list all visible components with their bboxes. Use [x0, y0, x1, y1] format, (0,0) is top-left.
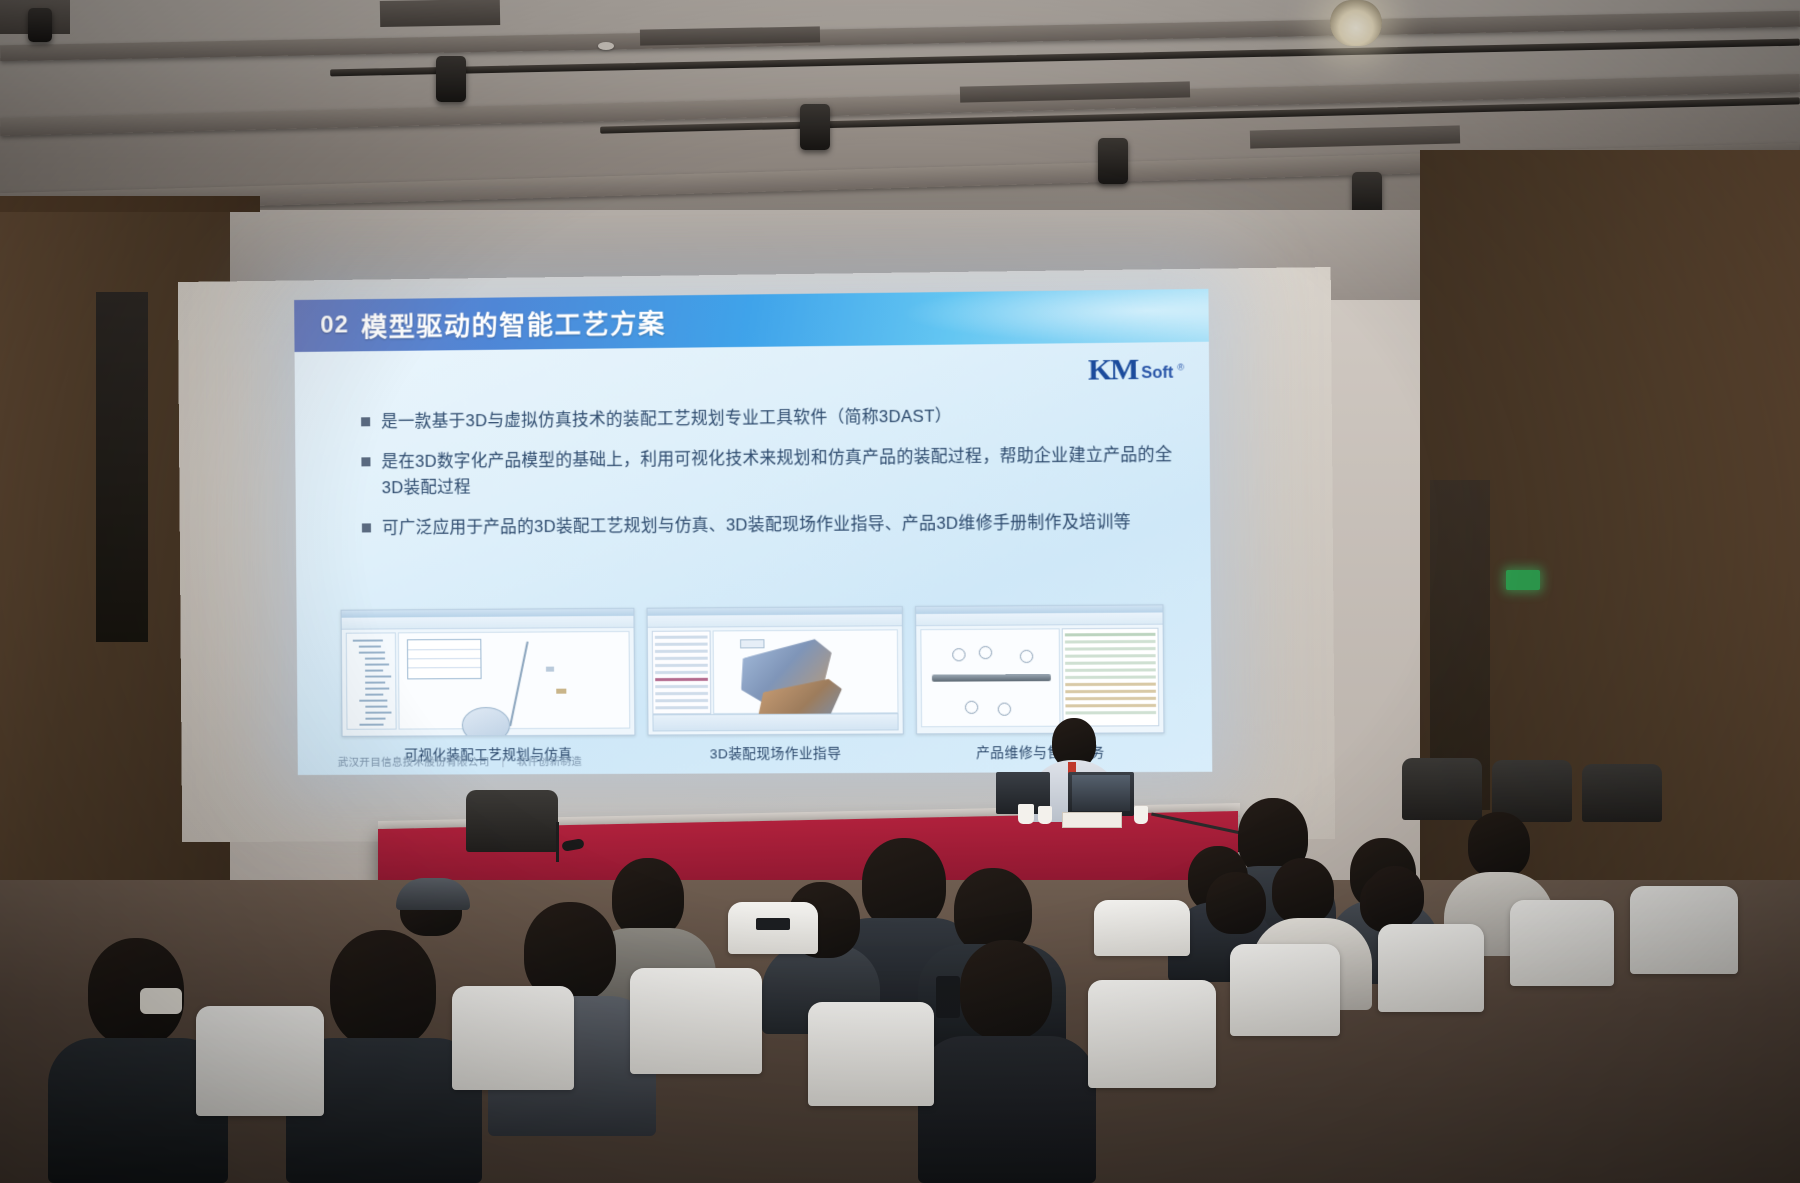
audience-chair[interactable] [1088, 980, 1216, 1088]
slide-title: 模型驱动的智能工艺方案 [361, 303, 666, 344]
square-bullet-icon [362, 524, 371, 533]
audience-body [918, 1036, 1096, 1183]
audience-head [1206, 872, 1266, 934]
balloon-callout [965, 701, 978, 714]
footer-separator: | [502, 756, 505, 768]
callout-label [740, 639, 764, 648]
audience-chair[interactable] [452, 986, 574, 1090]
square-bullet-icon [361, 457, 370, 466]
probe-line [509, 641, 528, 726]
service-record-table [1062, 628, 1160, 727]
toolbar [648, 614, 902, 628]
footer-tagline: 软件创新制造 [517, 754, 582, 769]
face-mask-icon [140, 988, 182, 1014]
water-cup [1018, 804, 1034, 824]
audience-chair[interactable] [1230, 944, 1340, 1036]
audience-chair[interactable] [1402, 758, 1482, 820]
kmsoft-logo: KM Soft ® [1088, 352, 1185, 388]
audience-chair[interactable] [1582, 764, 1662, 822]
audience-head [1366, 866, 1424, 926]
screenshot-cad-planning[interactable] [341, 608, 636, 737]
balloon-callout [979, 646, 992, 659]
toolbar [342, 616, 634, 630]
thumbnail-item: 3D装配现场作业指导 [647, 606, 904, 763]
balloon-callout [998, 703, 1011, 716]
slide-footer: 武汉开目信息技术股份有限公司 | 软件创新制造 [338, 754, 582, 770]
phone-icon[interactable] [936, 976, 960, 1018]
toolbar [916, 612, 1162, 626]
left-speaker [96, 292, 148, 642]
stage-chair[interactable] [466, 790, 558, 852]
logo-wordmark: Soft [1141, 364, 1173, 387]
water-cup [1134, 806, 1148, 824]
exit-sign [1506, 570, 1540, 590]
audience-chair[interactable] [630, 968, 762, 1074]
audience-chair[interactable] [196, 1006, 324, 1116]
ceiling-recess [640, 26, 820, 45]
slide-body: KM Soft ® 是一款基于3D与虚拟仿真技术的装配工艺规划专业工具软件（简称… [295, 342, 1213, 775]
shaft-part [932, 674, 1051, 682]
ceiling-recess [380, 0, 500, 27]
step-toolbar[interactable] [652, 713, 898, 731]
audience-chair[interactable] [1510, 900, 1614, 986]
audience-chair[interactable] [1630, 886, 1738, 974]
water-cup [1038, 806, 1052, 824]
annotation-dot [546, 667, 554, 672]
bullet-item: 是在3D数字化产品模型的基础上，利用可视化技术来规划和仿真产品的装配过程，帮助企… [361, 441, 1183, 502]
ceiling-spotlight [1098, 138, 1128, 184]
ceiling-spotlight [800, 104, 830, 150]
bullet-text: 可广泛应用于产品的3D装配工艺规划与仿真、3D装配现场作业指导、产品3D维修手册… [382, 509, 1131, 542]
smoke-detector [598, 42, 614, 50]
cad-canvas [398, 631, 630, 730]
bullet-item: 是一款基于3D与虚拟仿真技术的装配工艺规划专业工具软件（简称3DAST） [361, 401, 1183, 436]
ceiling-spotlight [436, 56, 466, 102]
annotation-dot [556, 689, 566, 694]
phone-icon[interactable] [756, 918, 790, 930]
microphone-stand[interactable] [556, 822, 559, 862]
nameplate [1062, 812, 1122, 828]
audience-chair[interactable] [1378, 924, 1484, 1012]
presentation-slide: 02 模型驱动的智能工艺方案 KM Soft ® 是一款基于3D与虚拟仿真技术的… [294, 289, 1212, 775]
projection-screen[interactable]: 02 模型驱动的智能工艺方案 KM Soft ® 是一款基于3D与虚拟仿真技术的… [294, 289, 1212, 775]
thumbnail-item: 产品维修与售后服务 [915, 604, 1165, 761]
balloon-callout [1020, 650, 1033, 663]
bullet-text: 是一款基于3D与虚拟仿真技术的装配工艺规划专业工具软件（简称3DAST） [381, 403, 952, 436]
ceiling-downlight [1330, 0, 1382, 46]
bullet-text: 是在3D数字化产品模型的基础上，利用可视化技术来规划和仿真产品的装配过程，帮助企… [381, 441, 1183, 502]
model-tree [346, 632, 397, 729]
ceiling-spotlight [28, 8, 52, 42]
thumbnail-item: 可视化装配工艺规划与仿真 [341, 608, 636, 764]
audience-chair[interactable] [808, 1002, 934, 1106]
bullet-list: 是一款基于3D与虚拟仿真技术的装配工艺规划专业工具软件（简称3DAST） 是在3… [361, 401, 1184, 555]
thumbnail-caption: 3D装配现场作业指导 [710, 742, 842, 763]
audience-head [960, 940, 1052, 1040]
laptop-screen [1072, 775, 1130, 811]
service-viewport [920, 628, 1060, 727]
audience-head [862, 838, 946, 930]
disc-part [462, 707, 511, 737]
square-bullet-icon [361, 417, 370, 426]
screenshot-maintenance-service[interactable] [915, 604, 1164, 734]
audience-head [612, 858, 684, 938]
cap-icon [396, 878, 470, 910]
audience-chair[interactable] [1094, 900, 1190, 956]
screenshot-assembly-guidance[interactable] [647, 606, 904, 735]
operation-list [652, 630, 711, 714]
logo-mark-icon: KM [1088, 353, 1137, 388]
lecture-hall-scene: 02 模型驱动的智能工艺方案 KM Soft ® 是一款基于3D与虚拟仿真技术的… [0, 0, 1800, 1183]
footer-company: 武汉开目信息技术股份有限公司 [338, 754, 490, 770]
registered-trademark-icon: ® [1177, 362, 1184, 386]
3d-viewport [713, 629, 899, 714]
slide-section-number: 02 [320, 311, 349, 339]
property-table [407, 639, 482, 680]
audience-head [1272, 858, 1334, 924]
bullet-item: 可广泛应用于产品的3D装配工艺规划与仿真、3D装配现场作业指导、产品3D维修手册… [362, 509, 1184, 543]
balloon-callout [952, 648, 965, 661]
wall-trim [0, 196, 260, 212]
audience-head [1468, 812, 1530, 878]
audience-head [330, 930, 436, 1048]
